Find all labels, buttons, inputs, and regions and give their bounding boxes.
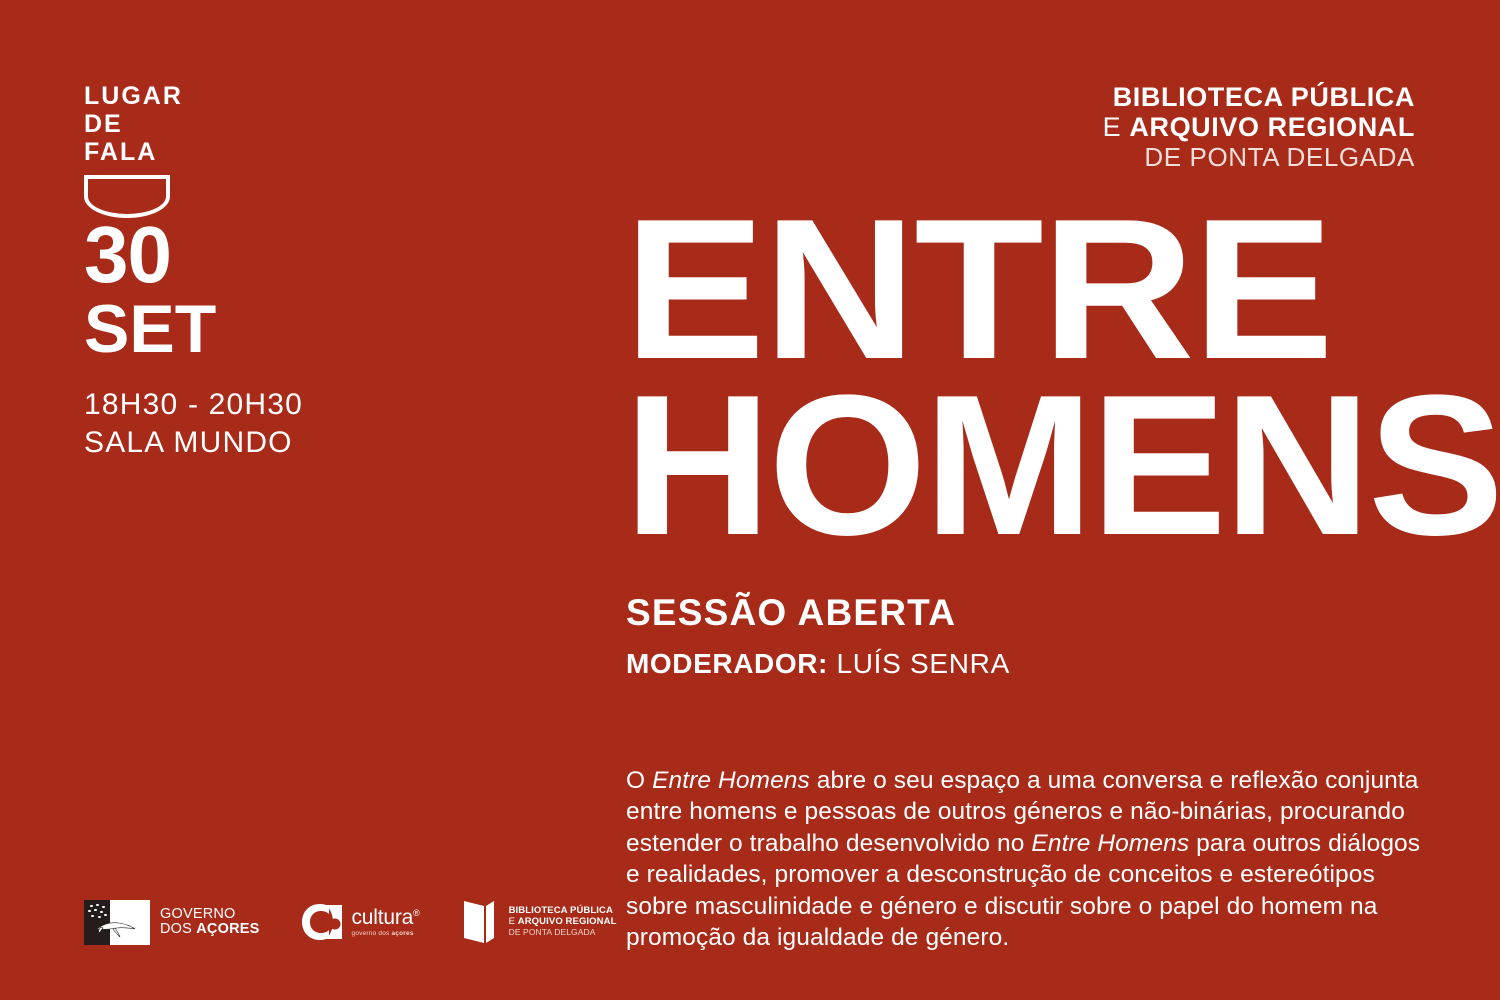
event-day: 30 [84,218,504,292]
page-title: ENTRE HOMENS [624,206,1434,550]
description-part-1: O [626,767,652,794]
biblioteca-line-2: E ARQUIVO REGIONAL [509,917,617,928]
cultura-registered-mark: ® [413,908,419,918]
institution-line-2-prefix: E [1103,112,1130,142]
cultura-text: cultura® governo dos açores [352,907,420,938]
governo-line-2-bold: AÇORES [196,921,259,937]
biblioteca-text: BIBLIOTECA PÚBLICA E ARQUIVO REGIONAL DE… [509,906,617,938]
biblioteca-line-2-light: E [509,916,518,927]
title-line-entre: ENTRE [624,206,1483,374]
event-month: SET [84,294,504,364]
subtitle-block: SESSÃO ABERTA MODERADOR: LUÍS SENRA [626,592,1386,680]
logo-biblioteca-publica: BIBLIOTECA PÚBLICA E ARQUIVO REGIONAL DE… [460,897,617,947]
open-book-icon [460,897,500,947]
institution-line-2-bold: ARQUIVO REGIONAL [1129,112,1415,142]
goshawk-icon [95,915,137,939]
logo-governo-dos-acores: GOVERNO DOS AÇORES [84,900,260,945]
event-date-block: 30 SET 18H30 - 20H30 SALA MUNDO [84,218,504,462]
logo-cultura: cultura® governo dos açores [300,901,420,943]
moderator-label: MODERADOR: [626,648,828,679]
institution-line-2: E ARQUIVO REGIONAL [795,112,1415,142]
description-italic-1: Entre Homens [652,767,810,794]
biblioteca-line-3: DE PONTA DELGADA [509,927,617,938]
event-time: 18H30 - 20H30 [84,386,504,424]
footer-logo-strip: GOVERNO DOS AÇORES cultura® governo dos … [84,892,616,952]
governo-line-2: DOS AÇORES [160,922,260,937]
cultura-subline: governo dos açores [352,931,420,938]
session-type: SESSÃO ABERTA [626,592,1386,634]
biblioteca-line-2-bold: ARQUIVO REGIONAL [518,916,617,927]
description-italic-2: Entre Homens [1031,830,1189,857]
governo-text: GOVERNO DOS AÇORES [160,907,260,937]
moderator-line: MODERADOR: LUÍS SENRA [626,648,1386,680]
moderator-name: LUÍS SENRA [836,648,1010,679]
brand-line-1: LUGAR [84,84,304,109]
cultura-subline-light: governo dos [352,930,392,937]
brand-logo-lugar-de-fala: LUGAR DE FALA [84,84,304,218]
brand-line-3: FALA [84,140,304,165]
institution-line-3: DE PONTA DELGADA [795,142,1415,172]
cultura-logo-icon [300,901,346,943]
institution-line-1: BIBLIOTECA PÚBLICA [795,82,1415,112]
azores-flag-icon [84,900,150,945]
event-room: SALA MUNDO [84,424,504,462]
governo-line-1: GOVERNO [160,907,260,922]
title-line-homens: HOMENS [624,382,1450,550]
cultura-name: cultura® [352,907,420,928]
description-paragraph: O Entre Homens abre o seu espaço a uma c… [626,765,1426,954]
cultura-wordmark: cultura [352,906,414,929]
institution-header: BIBLIOTECA PÚBLICA E ARQUIVO REGIONAL DE… [795,82,1415,172]
cultura-subline-bold: açores [391,930,413,937]
governo-line-2-light: DOS [160,921,196,937]
brand-line-2: DE [84,112,304,137]
poster-canvas: LUGAR DE FALA 30 SET 18H30 - 20H30 SALA … [0,0,1500,1000]
